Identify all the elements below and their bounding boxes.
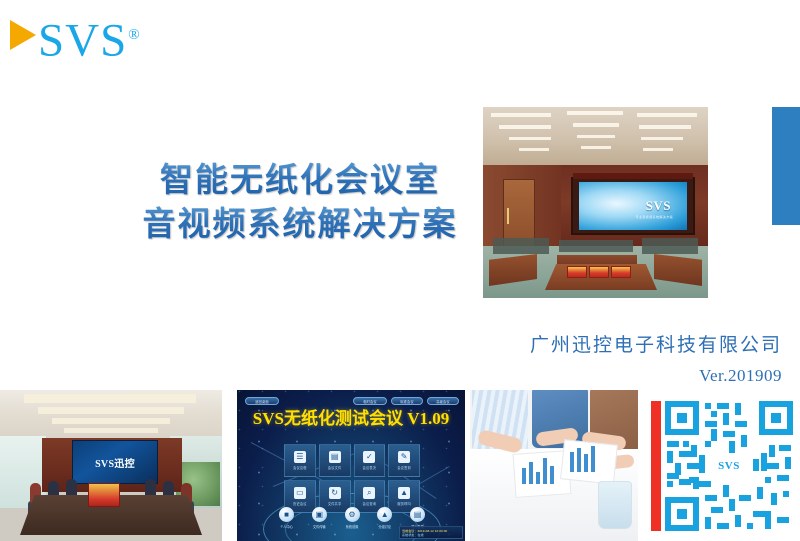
hero-ceiling-light bbox=[643, 148, 673, 151]
s2-dock-settings[interactable]: ⚙ 系统设置 bbox=[345, 507, 360, 529]
company-block: 广州迅控电子科技有限公司 Ver.201909 bbox=[530, 330, 782, 386]
hero-desk-device bbox=[589, 266, 609, 278]
s2-tile-label: 会议文件 bbox=[328, 465, 342, 470]
s2-tile-vote[interactable]: ✓ 会议表决 bbox=[354, 444, 386, 477]
hero-ceiling-light bbox=[491, 113, 551, 117]
qr-center-label: SVS bbox=[718, 460, 740, 472]
company-name: 广州迅控电子科技有限公司 bbox=[530, 330, 782, 357]
s3-chart-bar bbox=[522, 468, 526, 484]
hero-ceiling-light bbox=[573, 123, 619, 127]
s2-dock-label: 个人中心 bbox=[280, 524, 293, 529]
play-triangle-icon bbox=[10, 20, 36, 50]
s3-chart-bar bbox=[570, 452, 574, 472]
s2-tile-label: 历史会议 bbox=[293, 501, 307, 506]
s2-dock-label: 系统设置 bbox=[346, 524, 359, 529]
s1-ceiling-light bbox=[38, 407, 184, 414]
s1-ceiling-light bbox=[52, 418, 170, 424]
s1-ceiling-light bbox=[64, 428, 158, 433]
hero-ceiling-light bbox=[639, 125, 691, 129]
hero-led-wall: SVS 专业音视频系统解决方案 bbox=[571, 177, 695, 235]
s2-status-line-2: 系统状态：在线 bbox=[402, 533, 462, 537]
hero-door-handle bbox=[507, 208, 509, 224]
accent-side-bar bbox=[772, 107, 800, 225]
page-title: 智能无纸化会议室 音视频系统解决方案 bbox=[110, 158, 490, 246]
s1-ceiling-light bbox=[24, 394, 196, 403]
hero-ceiling-light bbox=[637, 113, 697, 117]
s1-screen-text: SVS迅控 bbox=[95, 455, 135, 470]
qr-finder-icon bbox=[665, 497, 699, 531]
version-label: Ver.201909 bbox=[530, 366, 782, 386]
s2-tile-label: 服务呼叫 bbox=[397, 501, 411, 506]
s2-tile-label: 会议查询 bbox=[363, 501, 377, 506]
hero-ceiling-light bbox=[581, 146, 611, 149]
s2-dock-file-transfer[interactable]: ▣ 文件传输 bbox=[312, 507, 327, 529]
s1-led-screen: SVS迅控 bbox=[72, 440, 158, 484]
hero-screen-subtitle: 专业音视频系统解决方案 bbox=[636, 215, 673, 219]
bell-icon: ▲ bbox=[398, 487, 410, 499]
hero-ceiling-light bbox=[567, 111, 623, 115]
s3-chart-bar bbox=[543, 458, 547, 484]
page-title-line-1: 智能无纸化会议室 bbox=[110, 158, 490, 202]
s2-dock-personal-center[interactable]: ■ 个人中心 bbox=[279, 507, 294, 529]
s3-chart-bar bbox=[577, 448, 581, 472]
strip-image-paperless-app: 返回桌面 临时会议 标准会议 高级会议 SVS无纸化测试会议 V1.09 ☰ 会… bbox=[237, 390, 465, 541]
strip-qr-code-block: SVS bbox=[643, 390, 800, 541]
strip-image-team-collaboration bbox=[470, 390, 638, 541]
s2-status-bar: 当前会议：2019-08-12 10:00:00 系统状态：在线 bbox=[399, 526, 463, 539]
s2-tile-label: 文件共享 bbox=[328, 501, 342, 506]
strip-image-meeting-room: SVS迅控 bbox=[0, 390, 222, 541]
s2-app-title: SVS无纸化测试会议 V1.09 bbox=[237, 404, 465, 429]
s2-tile-signin[interactable]: ✎ 会议签到 bbox=[388, 444, 420, 477]
hero-chair-row bbox=[642, 238, 698, 254]
s2-dock-group-discussion[interactable]: ▲ 分组讨论 bbox=[377, 507, 392, 529]
hero-chair-row bbox=[559, 240, 633, 252]
file-icon: ▤ bbox=[329, 451, 341, 463]
hero-ceiling-light bbox=[509, 137, 551, 140]
brand-logo: SVS® bbox=[10, 12, 141, 58]
hero-led-banner bbox=[573, 173, 693, 179]
s3-chart-bar bbox=[550, 466, 554, 484]
s3-report-paper bbox=[560, 439, 618, 484]
hero-screen-brand: SVS bbox=[646, 198, 671, 214]
share-icon: ↻ bbox=[329, 487, 341, 499]
bottom-image-strip: SVS迅控 返回桌面 临时会议 标准会议 高级会议 SVS无纸化测试会议 V1.… bbox=[0, 390, 800, 541]
hero-ceiling-light bbox=[519, 148, 549, 151]
hero-chair-row bbox=[493, 238, 549, 254]
s1-desk-terminal bbox=[88, 483, 120, 507]
s3-chart-bar bbox=[529, 462, 533, 484]
brand-logo-text: SVS® bbox=[38, 12, 141, 65]
s2-function-grid: ☰ 会议议程 ▤ 会议文件 ✓ 会议表决 ✎ 会议签到 ▭ 历史会议 ↻ 文件共… bbox=[284, 444, 420, 513]
hero-conference-room-image: SVS 专业音视频系统解决方案 bbox=[483, 107, 708, 298]
transfer-icon: ▣ bbox=[312, 507, 327, 522]
exit-icon: ▤ bbox=[410, 507, 425, 522]
hero-desk-device bbox=[611, 266, 631, 278]
registered-trademark-icon: ® bbox=[128, 27, 140, 43]
brand-logo-label: SVS bbox=[38, 15, 127, 67]
s2-dock-label: 文件传输 bbox=[313, 524, 326, 529]
s3-chart-bar bbox=[584, 454, 588, 472]
qr-center-logo: SVS bbox=[709, 453, 749, 479]
s3-water-glass bbox=[598, 481, 632, 529]
vote-icon: ✓ bbox=[363, 451, 375, 463]
s2-tile-agenda[interactable]: ☰ 会议议程 bbox=[284, 444, 316, 477]
qr-finder-icon bbox=[665, 401, 699, 435]
s3-chart-bar bbox=[591, 446, 595, 472]
qr-accent-bar bbox=[651, 401, 661, 531]
qr-code[interactable]: SVS bbox=[665, 401, 793, 531]
signin-icon: ✎ bbox=[398, 451, 410, 463]
hero-ceiling-light bbox=[641, 137, 683, 140]
qr-finder-icon bbox=[759, 401, 793, 435]
user-icon: ■ bbox=[279, 507, 294, 522]
s2-tile-label: 会议签到 bbox=[397, 465, 411, 470]
hero-ceiling-light bbox=[499, 125, 551, 129]
s2-tile-label: 会议议程 bbox=[293, 465, 307, 470]
clipboard-icon: ☰ bbox=[294, 451, 306, 463]
s2-tile-label: 会议表决 bbox=[363, 465, 377, 470]
hero-led-screen: SVS 专业音视频系统解决方案 bbox=[579, 182, 687, 230]
hero-ceiling-light bbox=[577, 135, 615, 138]
group-icon: ▲ bbox=[377, 507, 392, 522]
gear-icon: ⚙ bbox=[345, 507, 360, 522]
hero-desk-device bbox=[567, 266, 587, 278]
search-camera-icon: ⌕ bbox=[363, 487, 375, 499]
s3-chart-bar bbox=[536, 472, 540, 484]
folder-icon: ▭ bbox=[294, 487, 306, 499]
page-title-line-2: 音视频系统解决方案 bbox=[110, 202, 490, 246]
s2-tile-documents[interactable]: ▤ 会议文件 bbox=[319, 444, 351, 477]
s2-dock-label: 分组讨论 bbox=[378, 524, 391, 529]
